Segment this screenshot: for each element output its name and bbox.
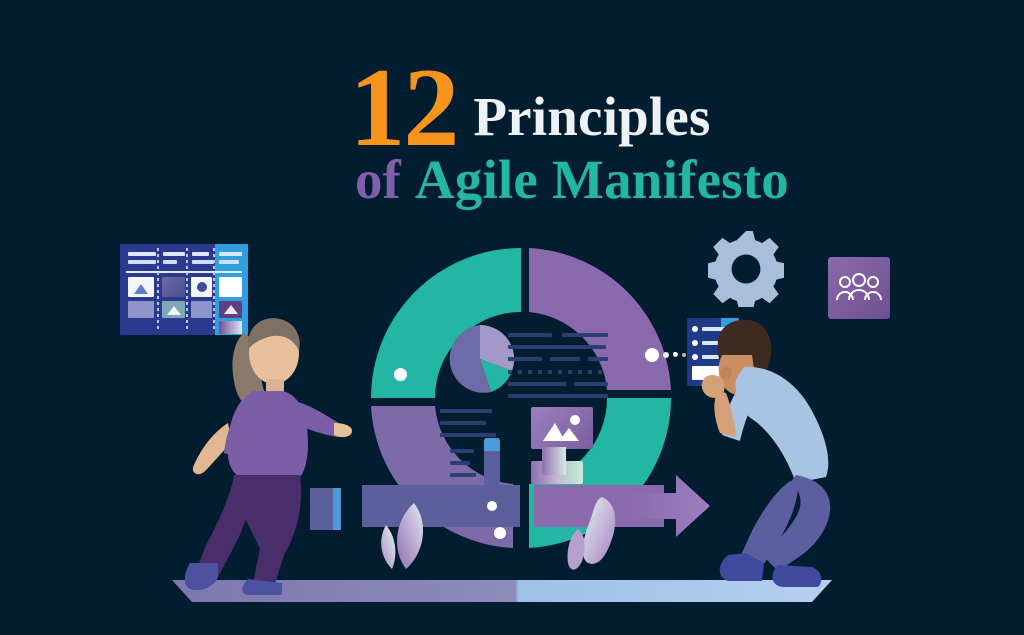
dash-text-line-7 [508,382,566,386]
checklist-bullet-3 [692,354,698,360]
foot-shapes [566,493,632,583]
checklist-bullet-2 [692,340,698,346]
kanban-col4-subheader [219,260,239,264]
illustration-stage [0,195,1024,635]
dash-left-line-2 [440,421,486,425]
kanban-col2-subheader [163,260,177,264]
leaf-small [381,525,395,569]
kanban-card-2[interactable] [162,277,185,297]
trail-dot-4 [673,352,677,356]
checklist-bullet-1 [692,326,698,332]
dash-text-line-2 [562,333,608,337]
dash-text-line-6 [588,357,608,361]
leaf-large [397,503,423,569]
dash-text-line-4 [508,357,542,361]
dash-text-line-3 [508,345,606,349]
kanban-card-3[interactable] [191,277,212,297]
kanban-col1-subheader [128,260,156,264]
dash-left-line-1 [440,409,492,413]
donut-handle-left[interactable] [394,368,407,381]
kanban-col3-header [192,252,209,256]
dashboard-panel [434,325,609,485]
title-number: 12 [349,46,457,170]
tick-bar-1 [488,453,500,475]
man-figure [700,315,850,595]
tick-bar-2 [542,447,566,475]
title-line-one: 12Principles [18,52,1024,164]
team-icon-tile[interactable] [828,257,890,319]
kanban-divider [126,271,242,273]
progress-arrow-right [628,473,710,539]
dash-left-line-3 [440,433,496,437]
dash-left-line-5 [450,461,470,465]
kanban-dashed-sep-1 [157,248,159,332]
image-icon [531,407,593,449]
title-word-principles: Principles [473,86,710,147]
poster-canvas: 12Principles ofAgile Manifesto [0,0,1024,635]
kanban-card-1[interactable] [128,277,154,297]
kanban-col1-header [128,252,156,256]
bar-long-handle[interactable] [487,501,497,511]
donut-handle-bottom[interactable] [494,527,506,539]
dash-left-line-6 [450,473,476,477]
trail-dot-1 [663,352,669,358]
trail-dot-3 [682,353,686,357]
dash-text-line-8 [574,382,608,386]
donut-handle-right[interactable] [645,348,659,362]
kanban-col3-subheader [192,260,214,264]
kanban-col2-header [163,252,185,256]
leaf-decoration [370,495,440,575]
dash-text-line-5 [550,357,580,361]
page-title: 12Principles ofAgile Manifesto [0,52,1024,219]
woman-figure [182,305,352,595]
dash-left-line-4 [450,449,474,453]
dash-text-line-1 [508,333,552,337]
people-group-icon [836,269,882,307]
image-placeholder-card[interactable] [531,407,593,449]
gear-icon [708,231,784,307]
dash-text-line-9 [508,394,608,398]
kanban-card-5[interactable] [128,301,154,318]
kanban-col4-header [219,252,242,256]
kanban-card-4[interactable] [219,277,242,297]
